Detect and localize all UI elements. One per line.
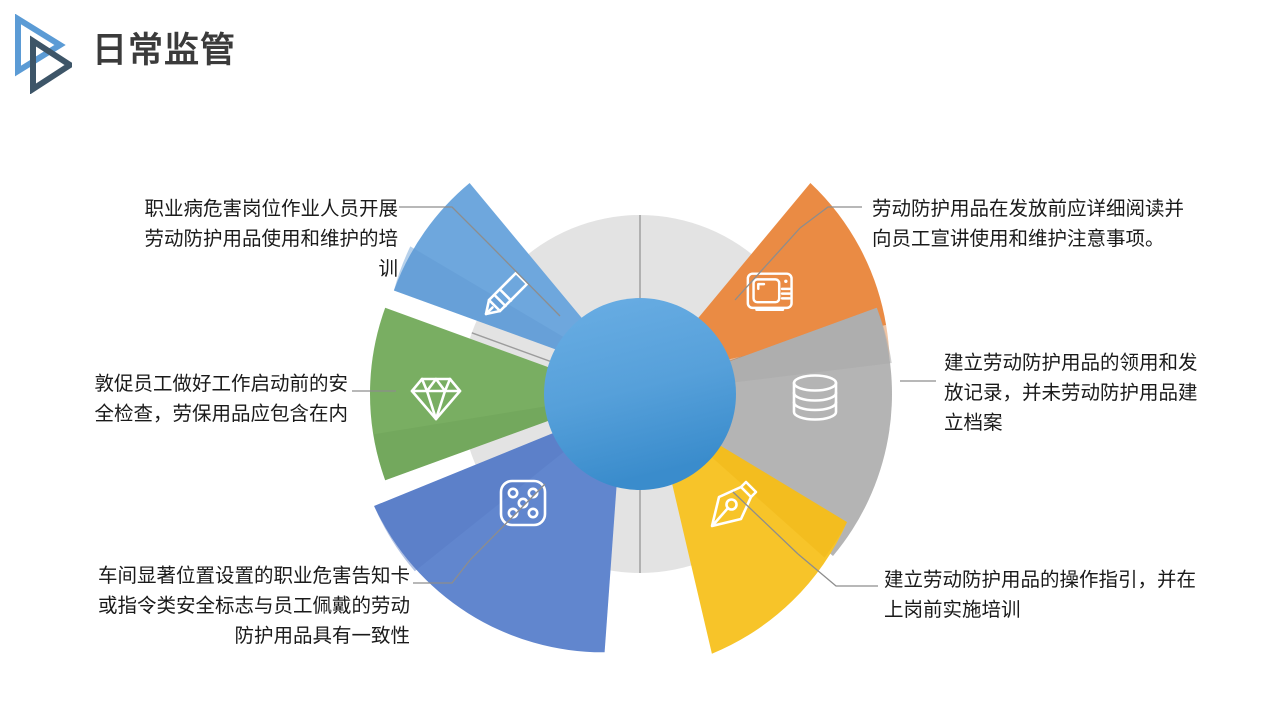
slide-canvas: 日常监管 — [0, 0, 1280, 720]
callout-label-pen-nib: 建立劳动防护用品的操作指引，并在 上岗前实施培训 — [884, 565, 1252, 625]
callout-label-diamond: 敦促员工做好工作启动前的安 全检查，劳保用品应包含在内 — [28, 369, 348, 429]
callout-label-tv: 劳动防护用品在发放前应详细阅读并 向员工宣讲使用和维护注意事项。 — [872, 194, 1240, 254]
center-hub-circle[interactable] — [544, 298, 736, 490]
center-hub[interactable] — [544, 298, 736, 490]
callout-label-database: 建立劳动防护用品的领用和发 放记录，并未劳动防护用品建 立档案 — [944, 348, 1250, 438]
callout-label-pencil: 职业病危害岗位作业人员开展 劳动防护用品使用和维护的培 训 — [48, 194, 398, 284]
callout-label-dice: 车间显著位置设置的职业危害告知卡 或指令类安全标志与员工佩戴的劳动 防护用品具有… — [38, 561, 410, 651]
